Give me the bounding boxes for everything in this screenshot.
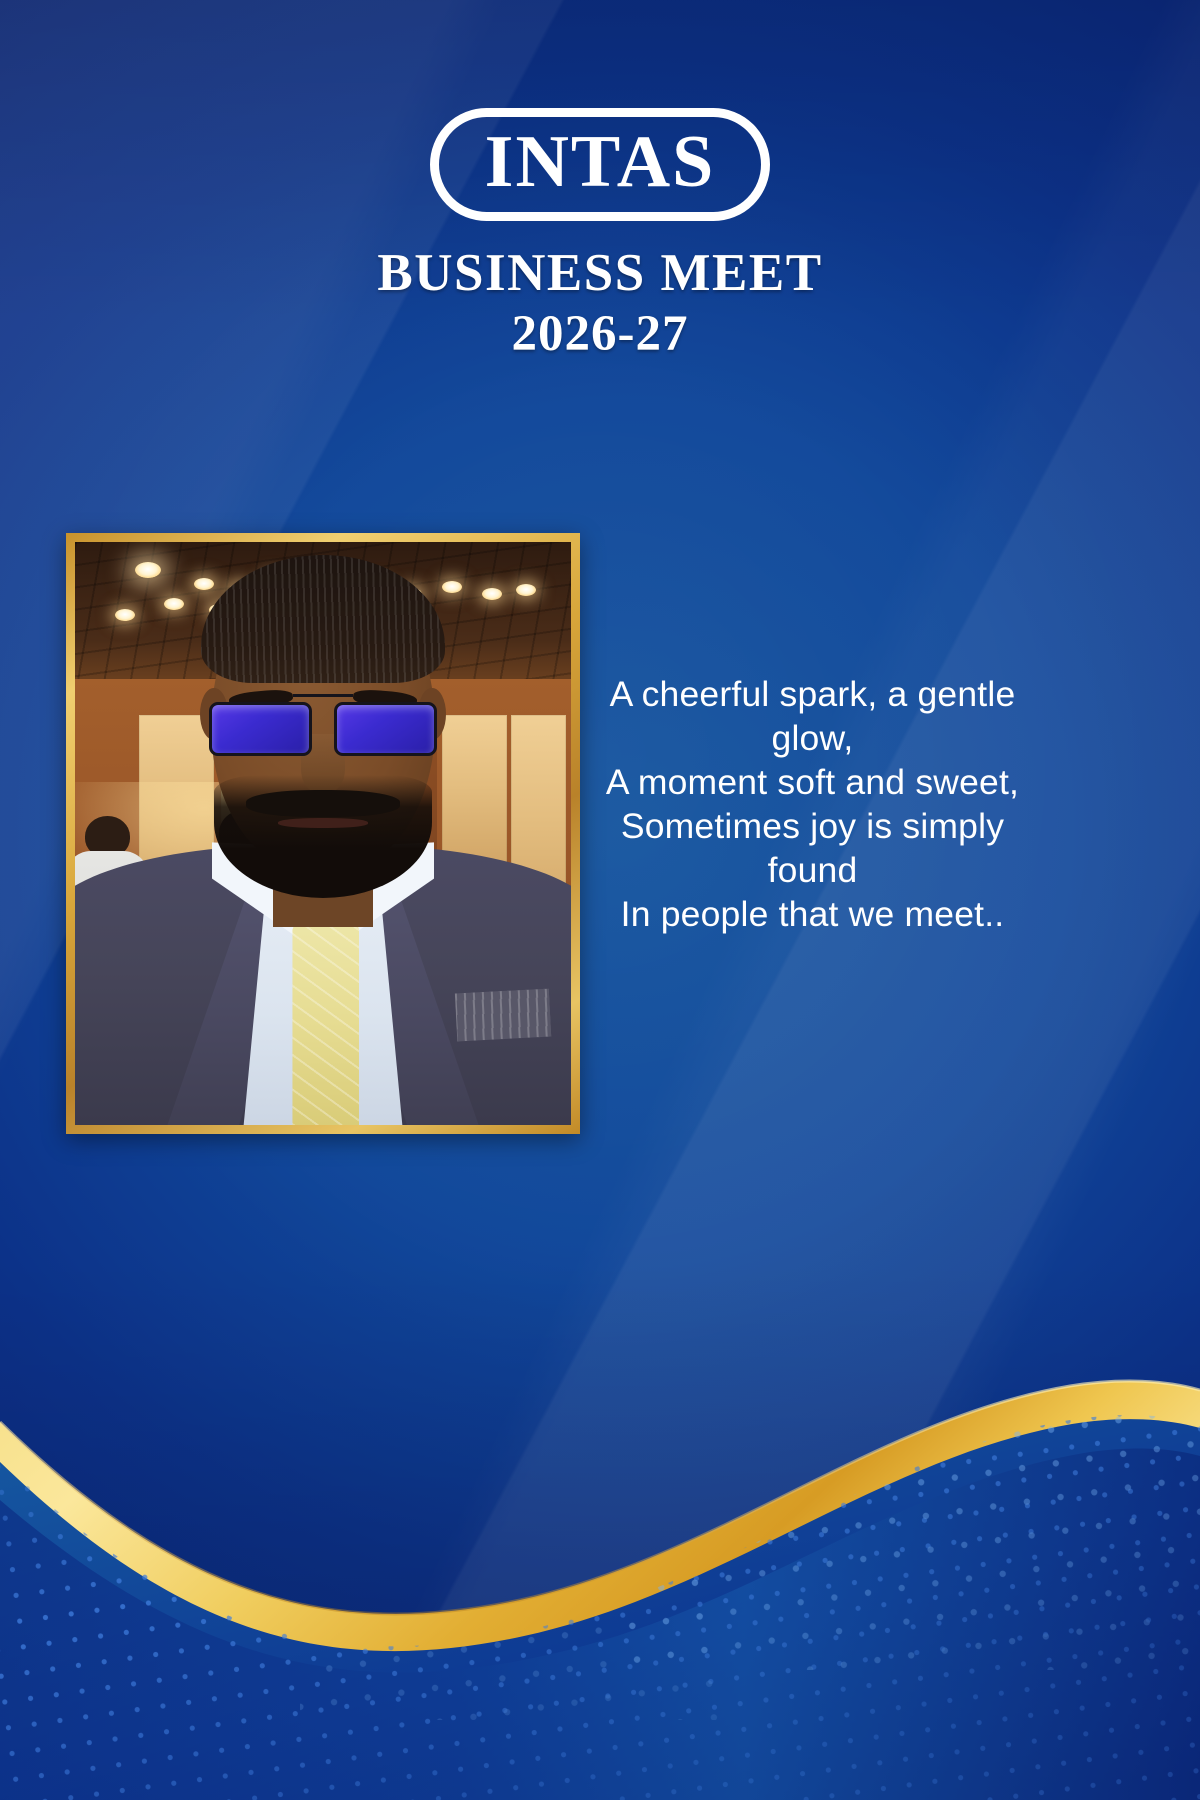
portrait-photo	[75, 542, 571, 1125]
poem-block: A cheerful spark, a gentle glow, A momen…	[585, 672, 1040, 936]
mouth	[278, 818, 367, 828]
event-year: 2026-27	[0, 305, 1200, 363]
hair	[201, 555, 444, 683]
poem-line: Sometimes joy is simply found	[585, 804, 1040, 892]
poster-header: INTAS BUSINESS MEET 2026-27	[0, 108, 1200, 363]
intas-logo: INTAS	[430, 108, 771, 221]
glasses-bridge	[293, 694, 353, 764]
moustache	[246, 790, 400, 817]
poem-line: A moment soft and sweet,	[585, 760, 1040, 804]
intas-logo-text: INTAS	[485, 126, 716, 199]
poster-canvas: INTAS BUSINESS MEET 2026-27	[0, 0, 1200, 1800]
necktie	[292, 893, 359, 1125]
pocket-square	[455, 988, 552, 1040]
gold-wave-decoration	[0, 1200, 1200, 1800]
portrait-frame	[66, 533, 580, 1134]
poem-line: In people that we meet..	[585, 892, 1040, 936]
subject-portrait	[75, 542, 571, 1125]
event-title: BUSINESS MEET	[0, 243, 1200, 303]
poem-line: A cheerful spark, a gentle glow,	[585, 672, 1040, 760]
